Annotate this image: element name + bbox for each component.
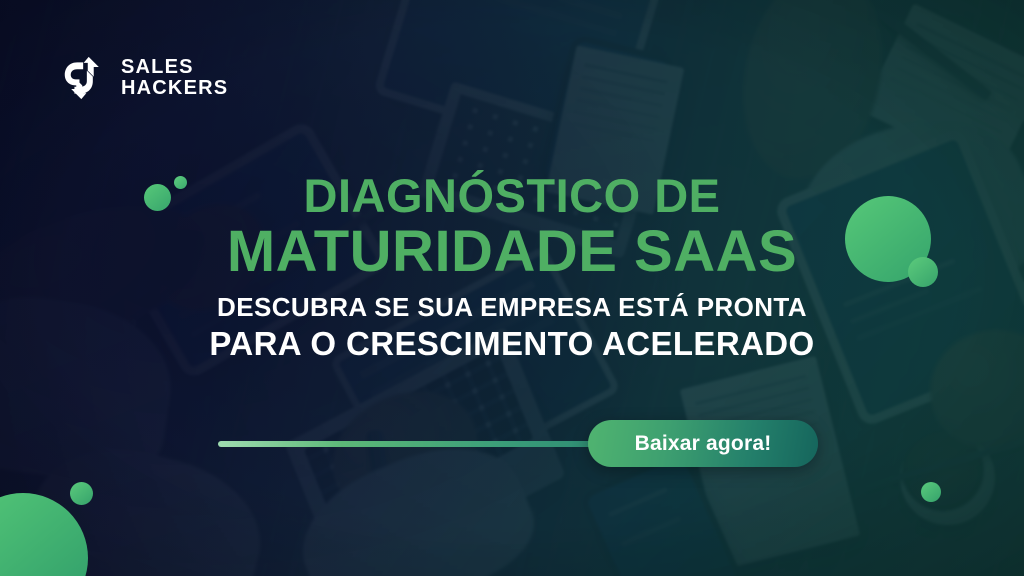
page-title-line1: DIAGNÓSTICO DE [0,172,1024,219]
sales-hackers-arrow-mark-icon [62,55,108,101]
page-subtitle-line1: DESCUBRA SE SUA EMPRESA ESTÁ PRONTA [0,292,1024,323]
page-subtitle: DESCUBRA SE SUA EMPRESA ESTÁ PRONTA PARA… [0,292,1024,364]
brand-logo[interactable]: SALES HACKERS [62,55,228,101]
circle-small-bottom-right [921,482,941,502]
page-title-line2: MATURIDADE SAAS [0,221,1024,284]
circle-small-bottom-left [70,482,93,505]
promo-banner: 85.00% [0,0,1024,576]
brand-name-line2: HACKERS [121,78,228,99]
brand-name-line1: SALES [121,57,228,78]
brand-wordmark: SALES HACKERS [121,57,228,99]
page-title: DIAGNÓSTICO DE MATURIDADE SAAS [0,172,1024,284]
download-button[interactable]: Baixar agora! [588,420,818,467]
page-subtitle-line2: PARA O CRESCIMENTO ACELERADO [0,325,1024,364]
